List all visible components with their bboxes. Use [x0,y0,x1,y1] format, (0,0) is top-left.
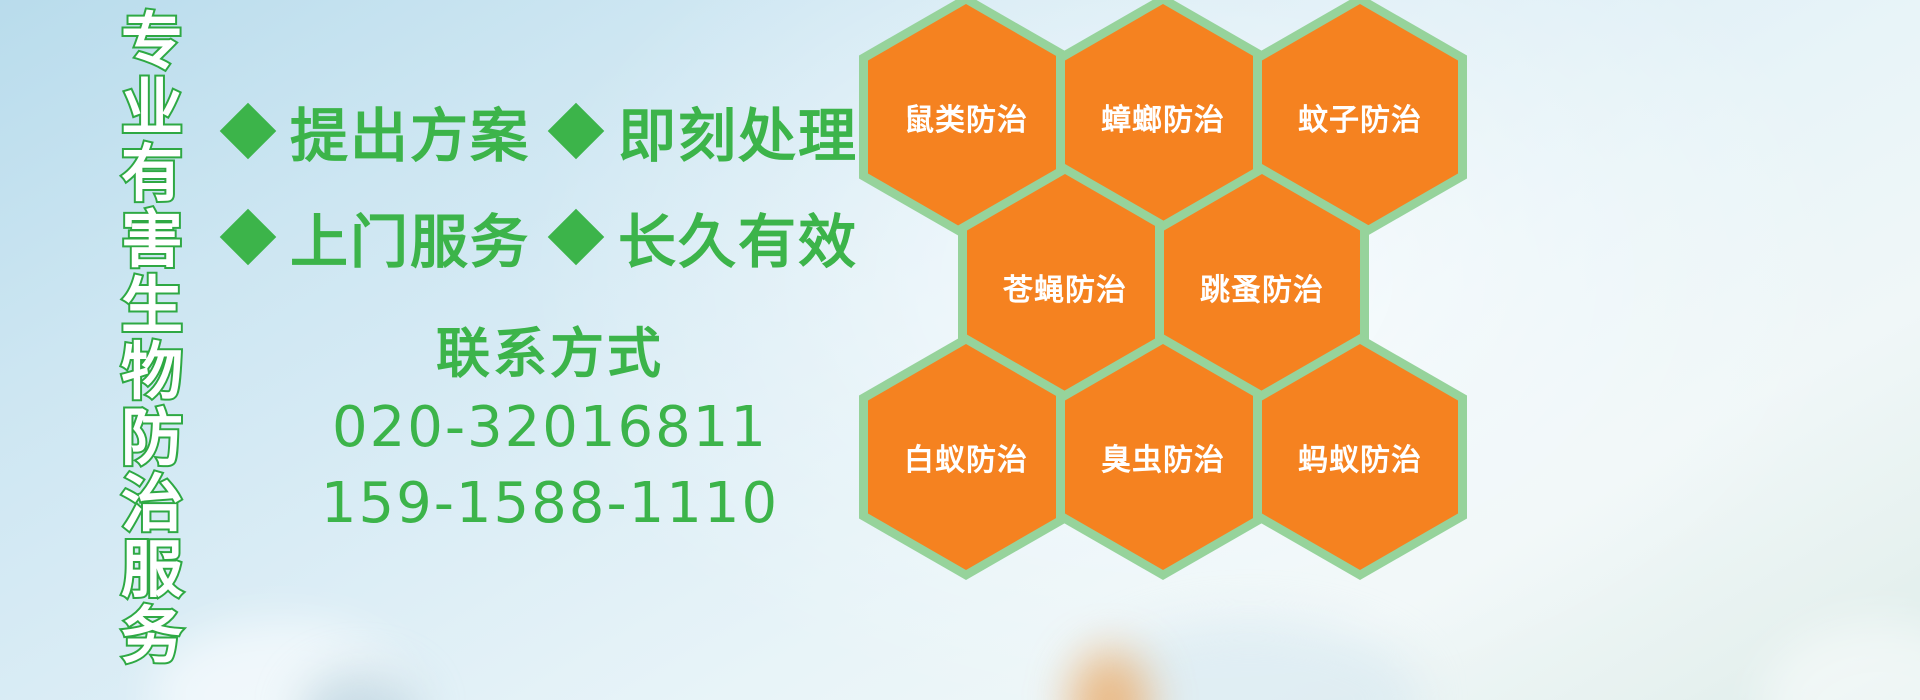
vertical-headline-char: 生 [121,274,183,340]
feature-label: 提出方案 [290,89,530,173]
vertical-headline-char: 服 [121,538,183,604]
feature-item: 即刻处理 [556,89,858,173]
feature-label: 长久有效 [618,195,858,279]
background-blob [1760,620,1920,700]
service-label: 白蚁防治 [904,435,1028,479]
contact-title: 联系方式 [300,318,800,390]
feature-item: 上门服务 [228,195,530,279]
feature-item: 长久有效 [556,195,858,279]
service-label: 蚂蚁防治 [1298,435,1422,479]
service-label: 苍蝇防治 [1003,265,1127,309]
service-hex-termite[interactable]: 白蚁防治 [868,344,1064,570]
vertical-headline-char: 害 [121,208,183,274]
service-label: 蟑螂防治 [1101,95,1225,139]
service-label: 蚊子防治 [1298,95,1422,139]
feature-label: 即刻处理 [618,89,858,173]
service-label: 跳蚤防治 [1200,265,1324,309]
diamond-bullet-icon [220,103,277,160]
vertical-headline: 专 业 有 害 生 物 防 治 服 务 [104,10,200,550]
feature-list: 提出方案 即刻处理 上门服务 长久有效 [228,78,868,290]
feature-row: 上门服务 长久有效 [228,184,868,290]
feature-label: 上门服务 [290,195,530,279]
service-label: 鼠类防治 [904,95,1028,139]
vertical-headline-char: 防 [121,406,183,472]
background-blob [1070,650,1150,700]
promo-banner: 专 业 有 害 生 物 防 治 服 务 提出方案 即刻处理 上门服务 [0,0,1920,700]
diamond-bullet-icon [220,209,277,266]
service-label: 臭虫防治 [1101,435,1225,479]
vertical-headline-char: 治 [121,472,183,538]
contact-phone-landline[interactable]: 020-32016811 [300,390,800,466]
feature-row: 提出方案 即刻处理 [228,78,868,184]
service-hex-bedbug[interactable]: 臭虫防治 [1065,344,1261,570]
vertical-headline-char: 物 [121,340,183,406]
vertical-headline-char: 务 [121,604,183,670]
service-hex-ant[interactable]: 蚂蚁防治 [1262,344,1458,570]
background-blob [1080,620,1420,700]
background-blob [150,620,410,700]
vertical-headline-char: 有 [121,142,183,208]
feature-item: 提出方案 [228,89,530,173]
diamond-bullet-icon [548,209,605,266]
service-honeycomb: 鼠类防治 蟑螂防治 蚊子防治 苍蝇防治 跳蚤防治 [862,0,1462,556]
vertical-headline-char: 专 [121,10,183,76]
background-blob [300,670,420,700]
diamond-bullet-icon [548,103,605,160]
contact-phone-mobile[interactable]: 159-1588-1110 [300,466,800,542]
contact-block: 联系方式 020-32016811 159-1588-1110 [300,318,800,542]
vertical-headline-char: 业 [121,76,183,142]
